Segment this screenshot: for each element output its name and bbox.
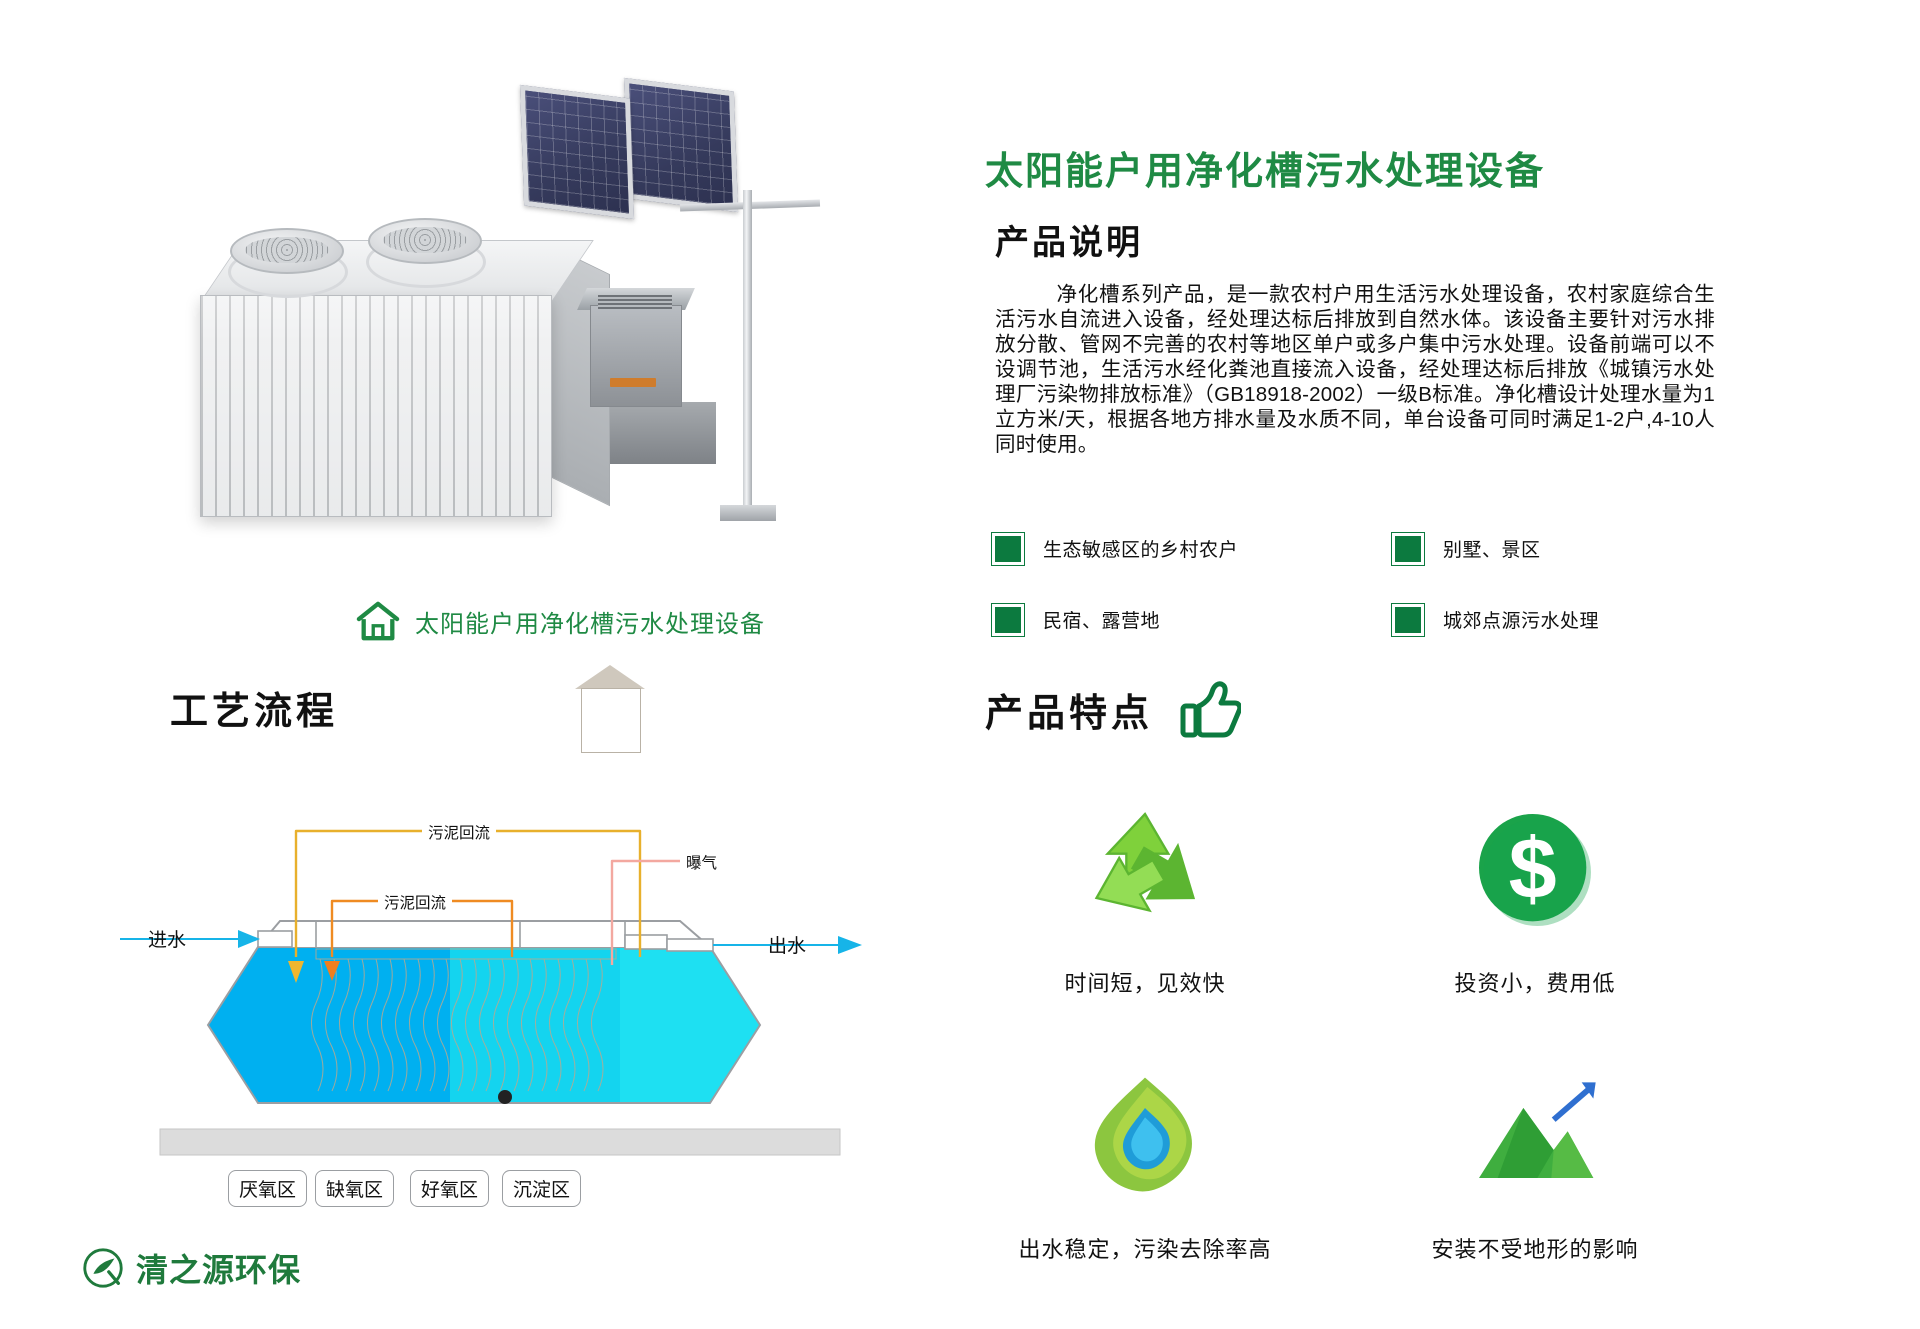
feature-item: 出水稳定，污染去除率高 bbox=[950, 1066, 1340, 1264]
bullet-item: 别墅、景区 bbox=[1395, 535, 1735, 562]
zone-label-anaerobic: 厌氧区 bbox=[228, 1170, 307, 1207]
tank-front-face bbox=[200, 295, 552, 517]
svg-text:$: $ bbox=[1509, 821, 1557, 917]
water-drop-leaf-icon bbox=[1075, 1066, 1215, 1206]
house-icon bbox=[355, 600, 401, 642]
control-cabinet-badge bbox=[610, 378, 656, 387]
product-description: 净化槽系列产品，是一款农村户用生活污水处理设备，农村家庭综合生活污水自流进入设备… bbox=[995, 282, 1715, 457]
solar-pole-foot bbox=[720, 505, 776, 521]
label-inlet: 进水 bbox=[148, 925, 186, 952]
feature-caption: 出水稳定，污染去除率高 bbox=[1018, 1232, 1271, 1264]
bullet-label: 别墅、景区 bbox=[1443, 535, 1541, 562]
mountain-icon bbox=[1465, 1066, 1605, 1206]
section-title-description: 产品说明 bbox=[995, 215, 1143, 264]
feature-caption: 时间短，见效快 bbox=[1064, 966, 1225, 998]
checkbox-icon bbox=[995, 607, 1021, 633]
bullet-label: 生态敏感区的乡村农户 bbox=[1043, 535, 1238, 562]
product-photo bbox=[120, 40, 850, 630]
section-title-features: 产品特点 bbox=[985, 680, 1241, 738]
feature-caption: 安装不受地形的影响 bbox=[1431, 1232, 1638, 1264]
feature-item: $ 投资小，费用低 bbox=[1340, 800, 1730, 998]
solar-pole bbox=[743, 190, 752, 520]
bullet-item: 民宿、露营地 bbox=[995, 606, 1395, 633]
zone-label-aerobic: 好氧区 bbox=[410, 1170, 489, 1207]
bullet-label: 民宿、露营地 bbox=[1043, 606, 1160, 633]
qzy-logo-icon bbox=[80, 1245, 126, 1291]
tank-lid-2 bbox=[368, 218, 482, 264]
feature-item: 时间短，见效快 bbox=[950, 800, 1340, 998]
control-cabinet-vent bbox=[598, 295, 672, 309]
thumbs-up-icon bbox=[1179, 680, 1241, 738]
features-title-text: 产品特点 bbox=[985, 682, 1153, 737]
bullet-item: 生态敏感区的乡村农户 bbox=[995, 535, 1395, 562]
brochure-page: 太阳能户用净化槽污水处理设备 太阳能户用净化槽污水处理设备 产品说明 净化槽系列… bbox=[0, 0, 1920, 1329]
control-cabinet bbox=[590, 305, 682, 407]
application-bullets: 生态敏感区的乡村农户 别墅、景区 民宿、露营地 城郊点源污水处理 bbox=[995, 535, 1735, 633]
zone-label-anoxic: 缺氧区 bbox=[315, 1170, 394, 1207]
page-title: 太阳能户用净化槽污水处理设备 bbox=[985, 140, 1545, 195]
product-caption: 太阳能户用净化槽污水处理设备 bbox=[355, 600, 765, 642]
checkbox-icon bbox=[1395, 536, 1421, 562]
zone-label-sedimentation: 沉淀区 bbox=[502, 1170, 581, 1207]
company-logo: 清之源环保 bbox=[80, 1245, 301, 1291]
features-grid: 时间短，见效快 $ 投资小，费用低 出水稳定，污染去除率高 bbox=[950, 800, 1730, 1264]
label-sludge-return-outer: 污泥回流 bbox=[422, 821, 496, 843]
feature-item: 安装不受地形的影响 bbox=[1340, 1066, 1730, 1264]
label-outlet: 出水 bbox=[768, 931, 806, 958]
tank-lid-1 bbox=[230, 228, 344, 274]
checkbox-icon bbox=[1395, 607, 1421, 633]
process-flow-diagram: 污泥回流 污泥回流 曝气 进水 出水 厌氧区 缺氧区 好氧区 沉淀区 bbox=[120, 725, 870, 1255]
bullet-item: 城郊点源污水处理 bbox=[1395, 606, 1735, 633]
recycle-icon bbox=[1075, 800, 1215, 940]
label-aeration: 曝气 bbox=[680, 851, 723, 873]
solar-panel-left bbox=[520, 85, 634, 219]
company-name: 清之源环保 bbox=[136, 1245, 301, 1291]
dollar-icon: $ bbox=[1465, 800, 1605, 940]
feature-caption: 投资小，费用低 bbox=[1454, 966, 1615, 998]
product-caption-text: 太阳能户用净化槽污水处理设备 bbox=[415, 604, 765, 639]
checkbox-icon bbox=[995, 536, 1021, 562]
label-sludge-return-inner: 污泥回流 bbox=[378, 891, 452, 913]
bullet-label: 城郊点源污水处理 bbox=[1443, 606, 1599, 633]
solar-panel-right bbox=[624, 78, 738, 212]
